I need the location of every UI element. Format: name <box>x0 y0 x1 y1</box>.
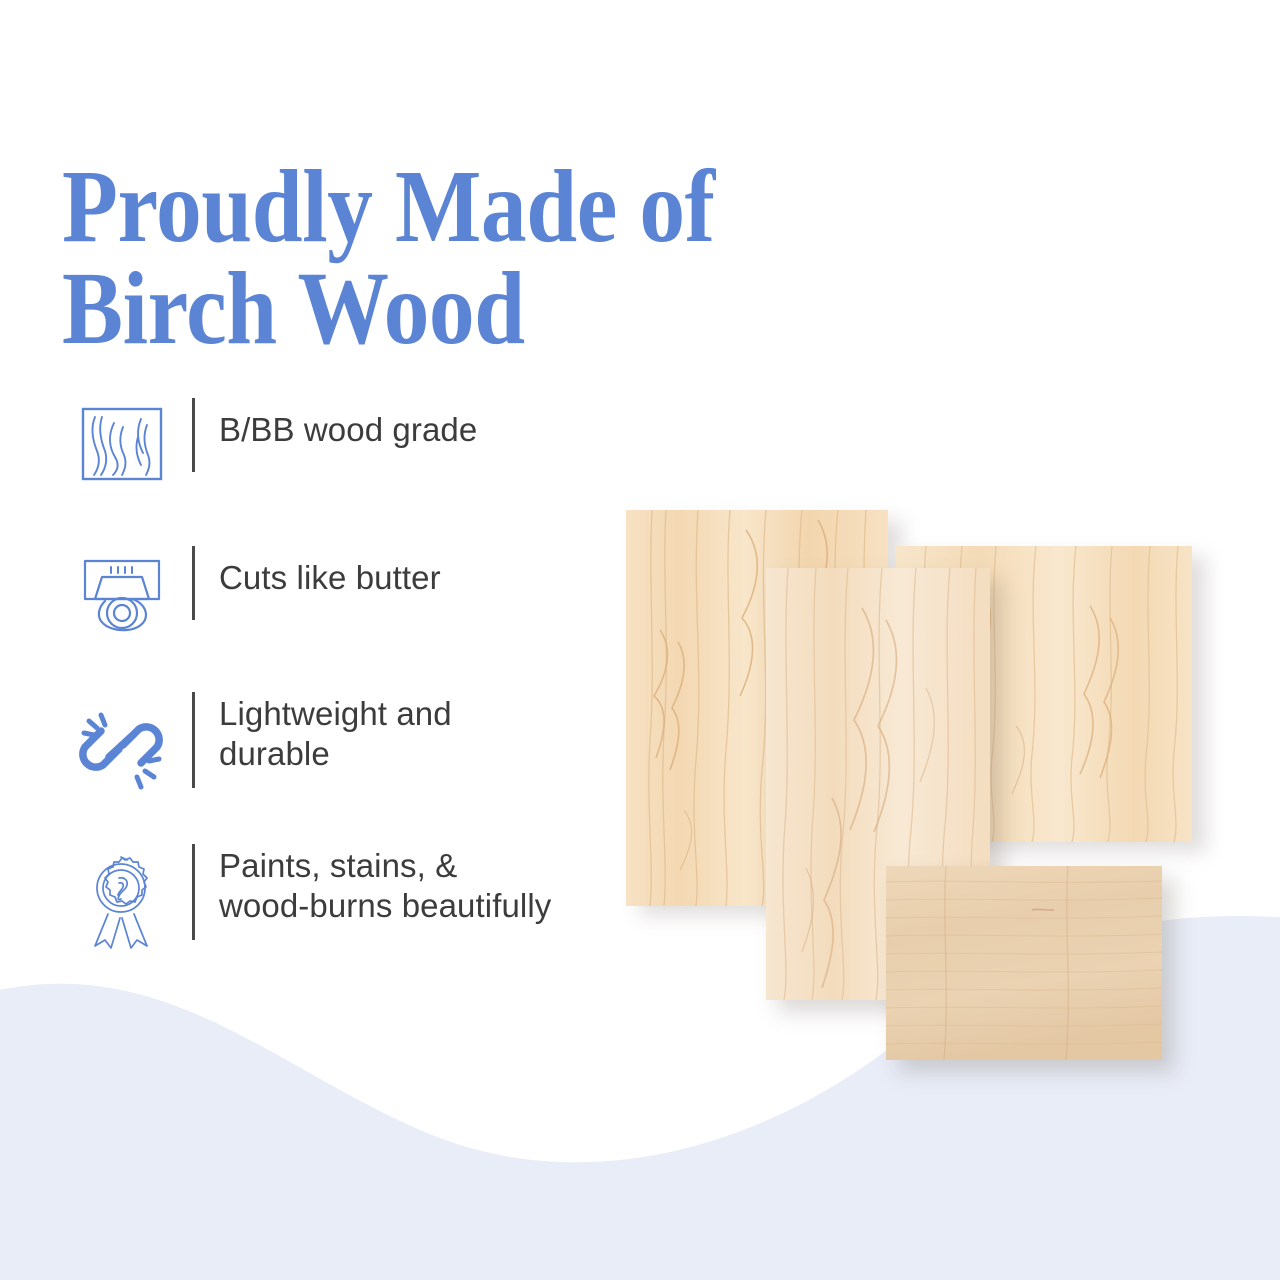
page-title: Proudly Made of Birch Wood <box>62 156 784 360</box>
feature-divider <box>192 692 195 788</box>
chain-link-strength-icon <box>70 696 174 800</box>
feature-row-lightweight-durable: Lightweight and durable <box>70 686 710 836</box>
feature-divider <box>192 844 195 940</box>
feature-label-paints-stains: Paints, stains, & wood-burns beautifully <box>219 844 551 927</box>
feature-divider <box>192 546 195 620</box>
wood-panel-center-tall <box>766 568 990 1000</box>
wood-grain-square-icon <box>70 392 174 496</box>
wood-panel-front-wide <box>886 866 1162 1060</box>
feature-label-cuts-like-butter: Cuts like butter <box>219 556 441 598</box>
infographic-canvas: Proudly Made of Birch Wood <box>0 0 1280 1280</box>
feature-list: B/BB wood grade <box>70 386 710 986</box>
feature-label-wood-grade: B/BB wood grade <box>219 408 477 450</box>
feature-label-lightweight-durable: Lightweight and durable <box>219 692 452 775</box>
feature-row-wood-grade: B/BB wood grade <box>70 386 710 536</box>
cutting-machine-icon <box>70 540 174 644</box>
award-ribbon-icon <box>70 850 174 954</box>
feature-row-cuts-like-butter: Cuts like butter <box>70 536 710 686</box>
feature-row-paints-stains: Paints, stains, & wood-burns beautifully <box>70 836 710 986</box>
feature-divider <box>192 398 195 472</box>
wood-panel-back-right <box>896 546 1192 842</box>
